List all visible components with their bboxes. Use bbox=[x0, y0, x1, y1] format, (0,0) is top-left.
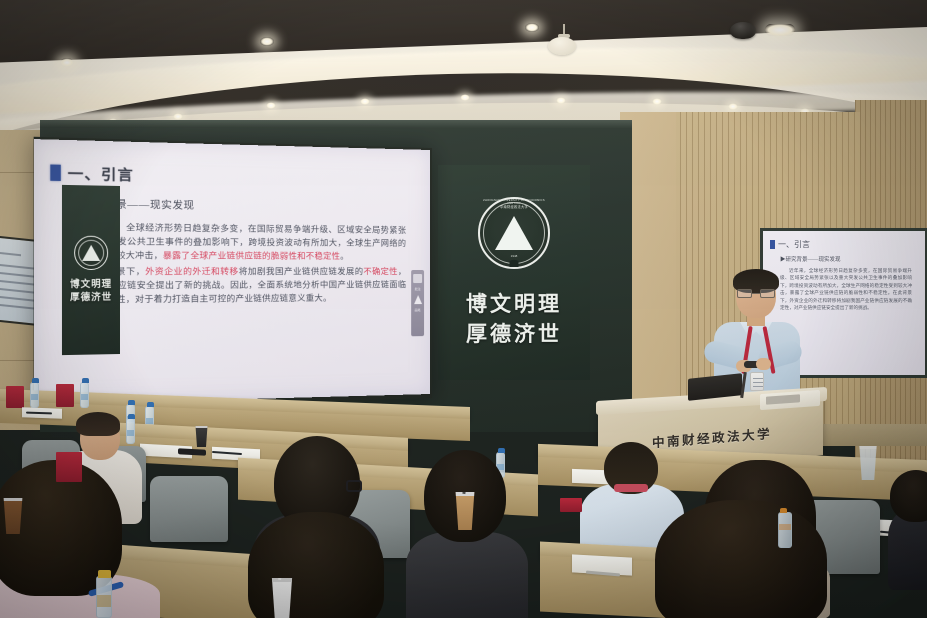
water-bottle-7 bbox=[96, 576, 112, 618]
motto-left-line-1: 博文明理 bbox=[70, 279, 112, 292]
security-dome-camera-icon bbox=[730, 22, 756, 39]
slide-subtitle: ▶研究背景——现实发现 bbox=[71, 195, 414, 215]
audience-lanyard bbox=[614, 484, 648, 492]
downlight-6 bbox=[266, 102, 276, 109]
audience-shirt-edge bbox=[888, 510, 927, 590]
lecture-hall-photo: 中南财经政法大学 1948 ZHONGNAN UNIVERSITY OF ECO… bbox=[0, 0, 927, 618]
audience-hair-foreground-mid bbox=[248, 512, 384, 618]
downlight-2 bbox=[260, 37, 274, 46]
audience-member-foreground-mid bbox=[248, 512, 398, 618]
desk-item-red-box-2 bbox=[56, 384, 74, 407]
desk-item-red-box-4 bbox=[560, 498, 582, 512]
downlight-5 bbox=[173, 113, 183, 120]
downlight-3 bbox=[525, 23, 539, 32]
downlight-10 bbox=[652, 98, 662, 105]
presenter-id-badge bbox=[750, 372, 764, 391]
motto-left-line-2: 厚德济世 bbox=[70, 292, 112, 305]
water-bottle-1 bbox=[30, 382, 39, 408]
motto-line-1: 博文明理 bbox=[466, 289, 562, 319]
water-bottle-8 bbox=[778, 512, 792, 548]
audience-member-right-edge bbox=[888, 470, 927, 590]
para2-highlight-1: 外资企业的外迁和转移 bbox=[145, 266, 238, 276]
audience-member-foreground-left bbox=[0, 470, 140, 618]
audience-shirt-dark-2 bbox=[406, 532, 528, 618]
presenter-glasses-icon bbox=[737, 289, 775, 298]
stage-backdrop-top-edge bbox=[40, 120, 632, 128]
university-crest-icon: 中南财经政法大学 1948 ZHONGNAN UNIVERSITY OF ECO… bbox=[478, 197, 550, 269]
water-bottle-2 bbox=[80, 382, 89, 408]
university-logo-panel-left: 博文明理 厚德济世 bbox=[62, 185, 120, 355]
downlight-7 bbox=[360, 98, 370, 105]
motto-line-2: 厚德济世 bbox=[466, 319, 562, 349]
downlight-1 bbox=[60, 58, 74, 67]
university-crest-icon-left bbox=[74, 235, 108, 269]
ceiling-bar-light bbox=[765, 24, 795, 36]
presenter-right-hand bbox=[756, 358, 771, 370]
slide-title: 一、引言 bbox=[68, 162, 134, 185]
para2-text-b: 将加剧我国产业链供应链发展的 bbox=[239, 266, 364, 275]
audience-member-dark-2 bbox=[412, 450, 522, 618]
audience-hair-edge bbox=[890, 470, 927, 522]
desk-item-red-box-1 bbox=[6, 386, 24, 408]
audience-hair bbox=[76, 412, 120, 436]
annotate-label: 批注 bbox=[415, 287, 421, 291]
side-monitor-subtitle: ▶研究背景——现实发现 bbox=[780, 255, 918, 263]
downlight-8 bbox=[460, 94, 470, 101]
slide-title-marker-icon bbox=[50, 164, 60, 180]
para1-text-b: 。 bbox=[340, 252, 349, 261]
para2-highlight-2: 不确定性 bbox=[363, 267, 397, 276]
downlight-9 bbox=[556, 97, 566, 104]
desk-item-red-box-3 bbox=[56, 452, 82, 482]
university-logo-panel: 中南财经政法大学 1948 ZHONGNAN UNIVERSITY OF ECO… bbox=[438, 165, 590, 380]
para1-highlight: 暴露了全球产业链供应链的脆弱性和不稳定性 bbox=[163, 251, 340, 261]
annotate-icon[interactable] bbox=[413, 274, 422, 283]
audience-hair-foreground-right bbox=[655, 500, 827, 618]
audience-member-foreground-right bbox=[655, 500, 835, 618]
side-monitor-title-marker-icon bbox=[770, 240, 775, 249]
ceiling-speaker-icon bbox=[548, 37, 576, 55]
audience-glasses-icon bbox=[346, 480, 362, 492]
side-monitor-title: 一、引言 bbox=[778, 239, 810, 250]
pen-label: 画笔 bbox=[415, 308, 421, 312]
whiteboard-toolbar[interactable]: 批注 画笔 bbox=[411, 270, 424, 336]
downlight-11 bbox=[728, 103, 738, 110]
pen-icon[interactable] bbox=[414, 295, 422, 304]
seat-mid-2 bbox=[150, 476, 228, 542]
